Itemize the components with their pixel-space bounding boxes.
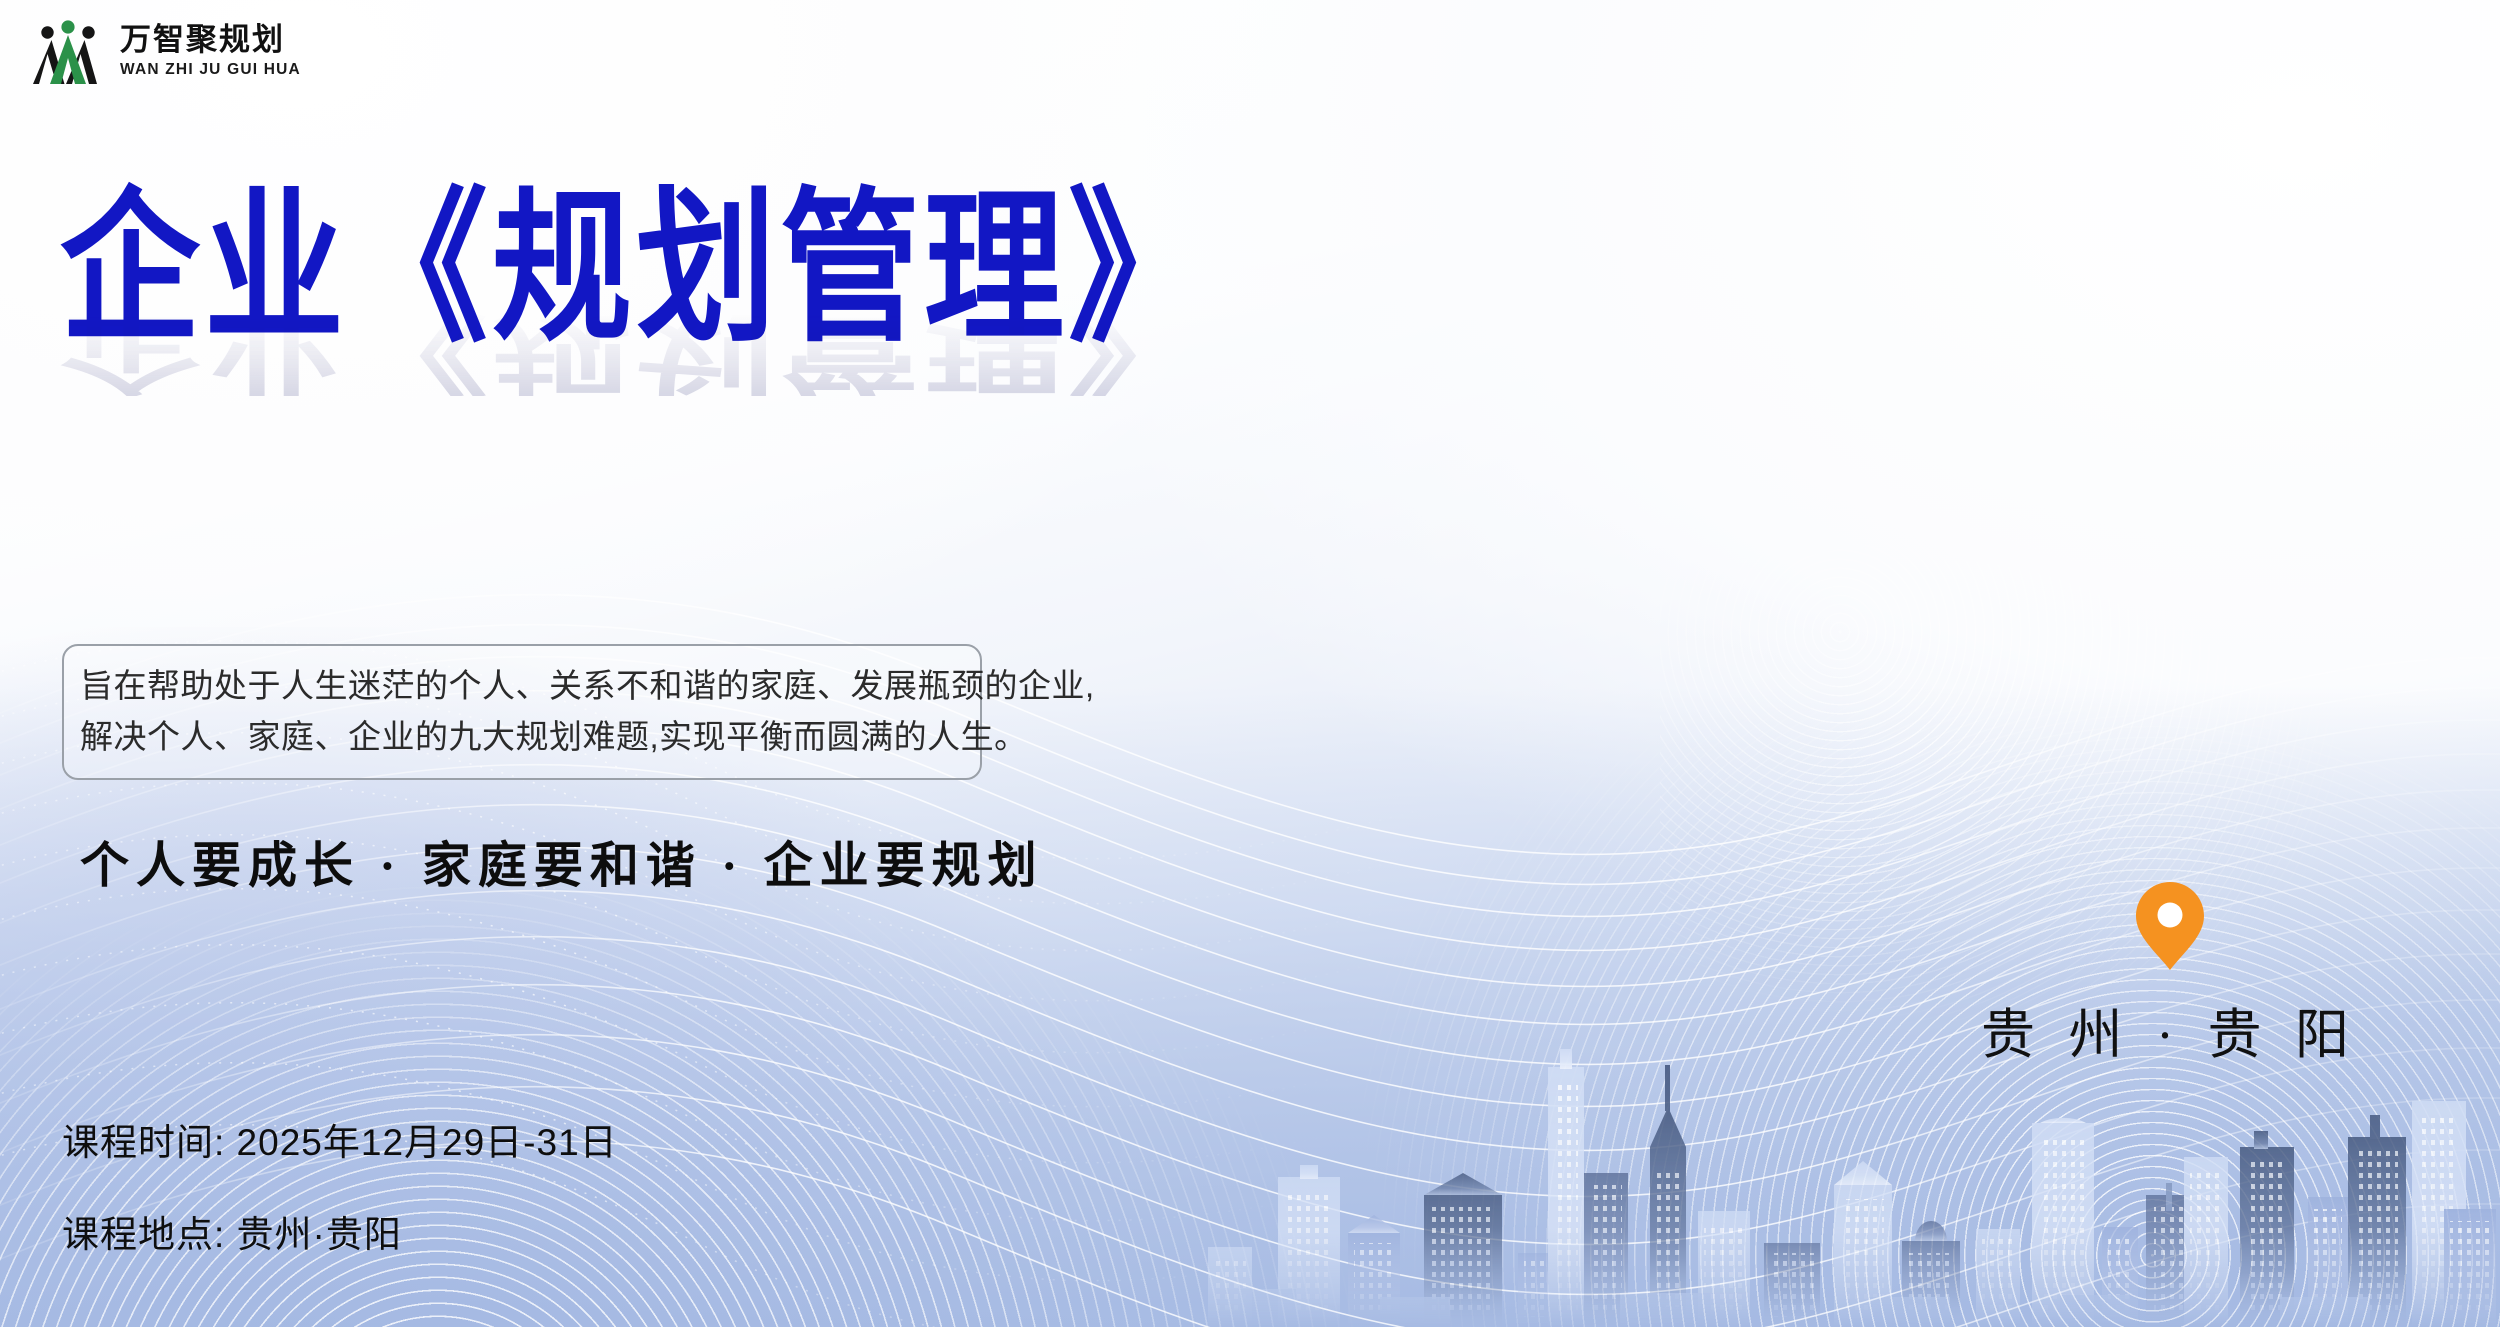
three-people-logo-icon xyxy=(30,14,106,88)
course-meta: 课程时间: 2025年12月29日-31日 课程地点: 贵州·贵阳 xyxy=(62,1112,618,1258)
location-city: 贵 州 · 贵 阳 xyxy=(1960,990,2380,1069)
description-line-1: 旨在帮助处于人生迷茫的个人、关系不和谐的家庭、发展瓶颈的企业, xyxy=(80,660,962,711)
map-pin-icon xyxy=(2133,880,2207,972)
brand-logo[interactable]: 万智聚规划 WAN ZHI JU GUI HUA xyxy=(30,14,301,88)
brand-name-pinyin: WAN ZHI JU GUI HUA xyxy=(120,62,301,78)
course-place: 课程地点: 贵州·贵阳 xyxy=(62,1204,618,1258)
slogan-text: 个人要成长 · 家庭要和谐 · 企业要规划 xyxy=(80,826,1044,897)
description-line-2: 解决个人、家庭、企业的九大规划难题,实现平衡而圆满的人生。 xyxy=(80,711,962,762)
page-title: 企业《规划管理》 xyxy=(60,186,1060,351)
description-box: 旨在帮助处于人生迷茫的个人、关系不和谐的家庭、发展瓶颈的企业, 解决个人、家庭、… xyxy=(62,644,982,780)
hero-title-block: 企业《规划管理》 企业《规划管理》 xyxy=(60,186,1060,326)
poster-canvas: 万智聚规划 WAN ZHI JU GUI HUA 企业《规划管理》 企业《规划管… xyxy=(0,0,2500,1327)
brand-name-cn: 万智聚规划 xyxy=(120,24,301,55)
brand-name: 万智聚规划 WAN ZHI JU GUI HUA xyxy=(120,24,301,78)
course-time: 课程时间: 2025年12月29日-31日 xyxy=(62,1112,618,1166)
location-block: 贵 州 · 贵 阳 xyxy=(1960,880,2380,1069)
